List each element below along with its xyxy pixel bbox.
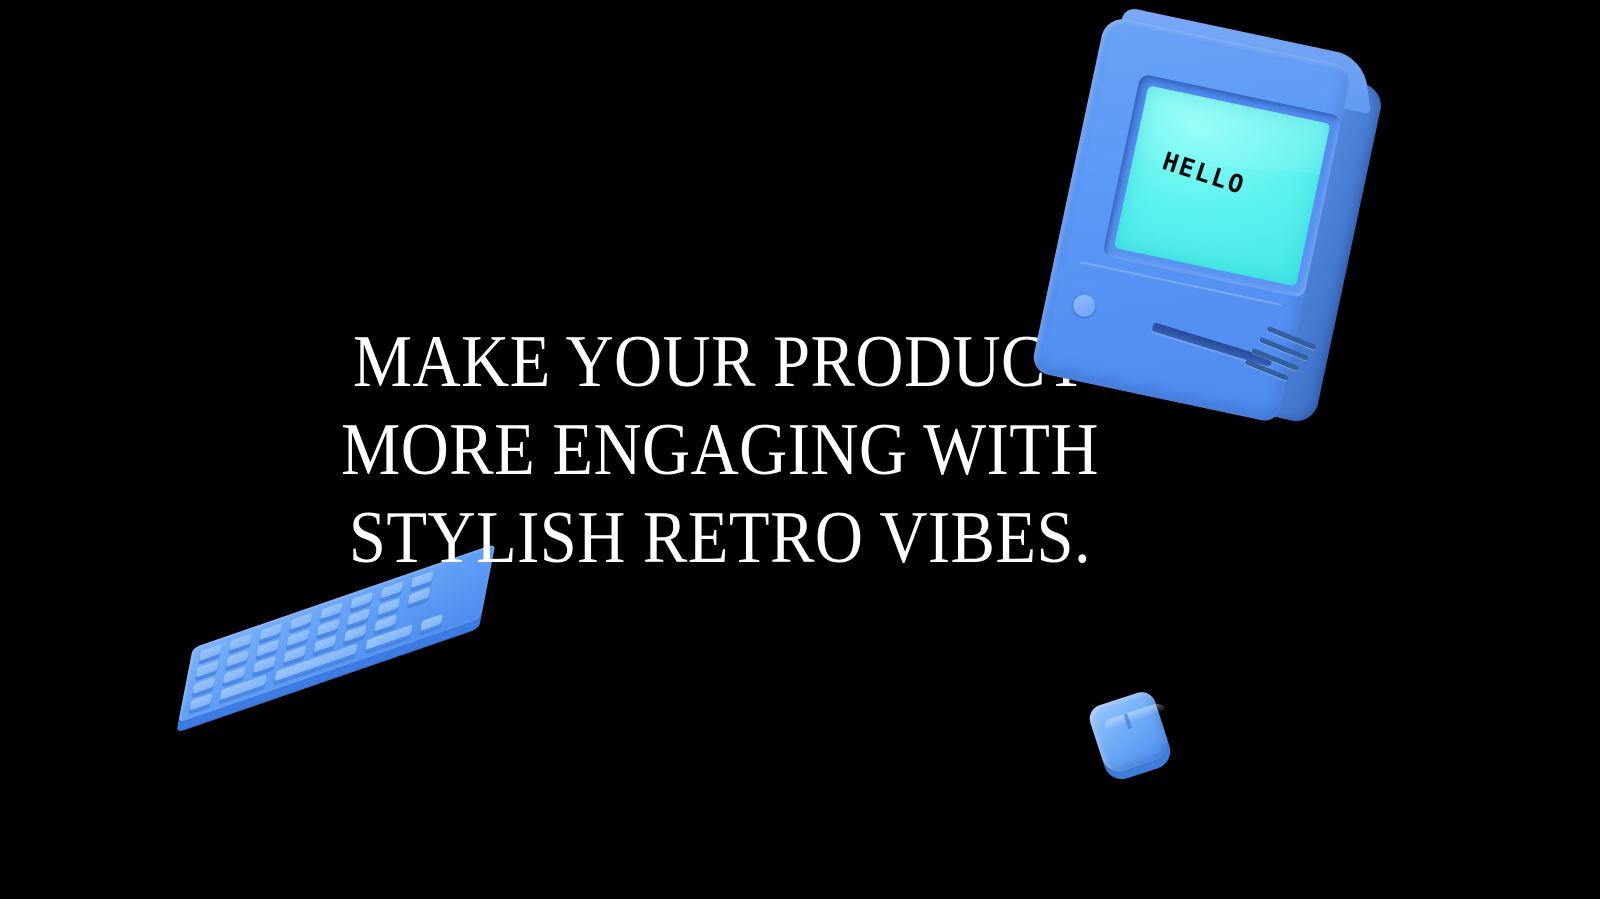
mouse-geometry	[1072, 670, 1195, 799]
retro-computer-icon: HELLO	[1042, 26, 1442, 438]
hero-canvas: MAKE YOUR PRODUCT MORE ENGAGING WITH STY…	[0, 0, 1600, 899]
mouse-body	[1086, 689, 1172, 777]
computer-geometry: HELLO	[1004, 0, 1481, 475]
mouse-highlight	[1102, 701, 1166, 730]
retro-keyboard-icon	[178, 604, 530, 790]
retro-mouse-icon	[1086, 682, 1182, 786]
keyboard-geometry	[178, 544, 495, 724]
screen-bezel: HELLO	[1102, 73, 1342, 298]
headline-line-3: STYLISH RETRO VIBES.	[72, 494, 1368, 582]
screen-text: HELLO	[1159, 146, 1249, 200]
computer-screen: HELLO	[1114, 85, 1330, 286]
